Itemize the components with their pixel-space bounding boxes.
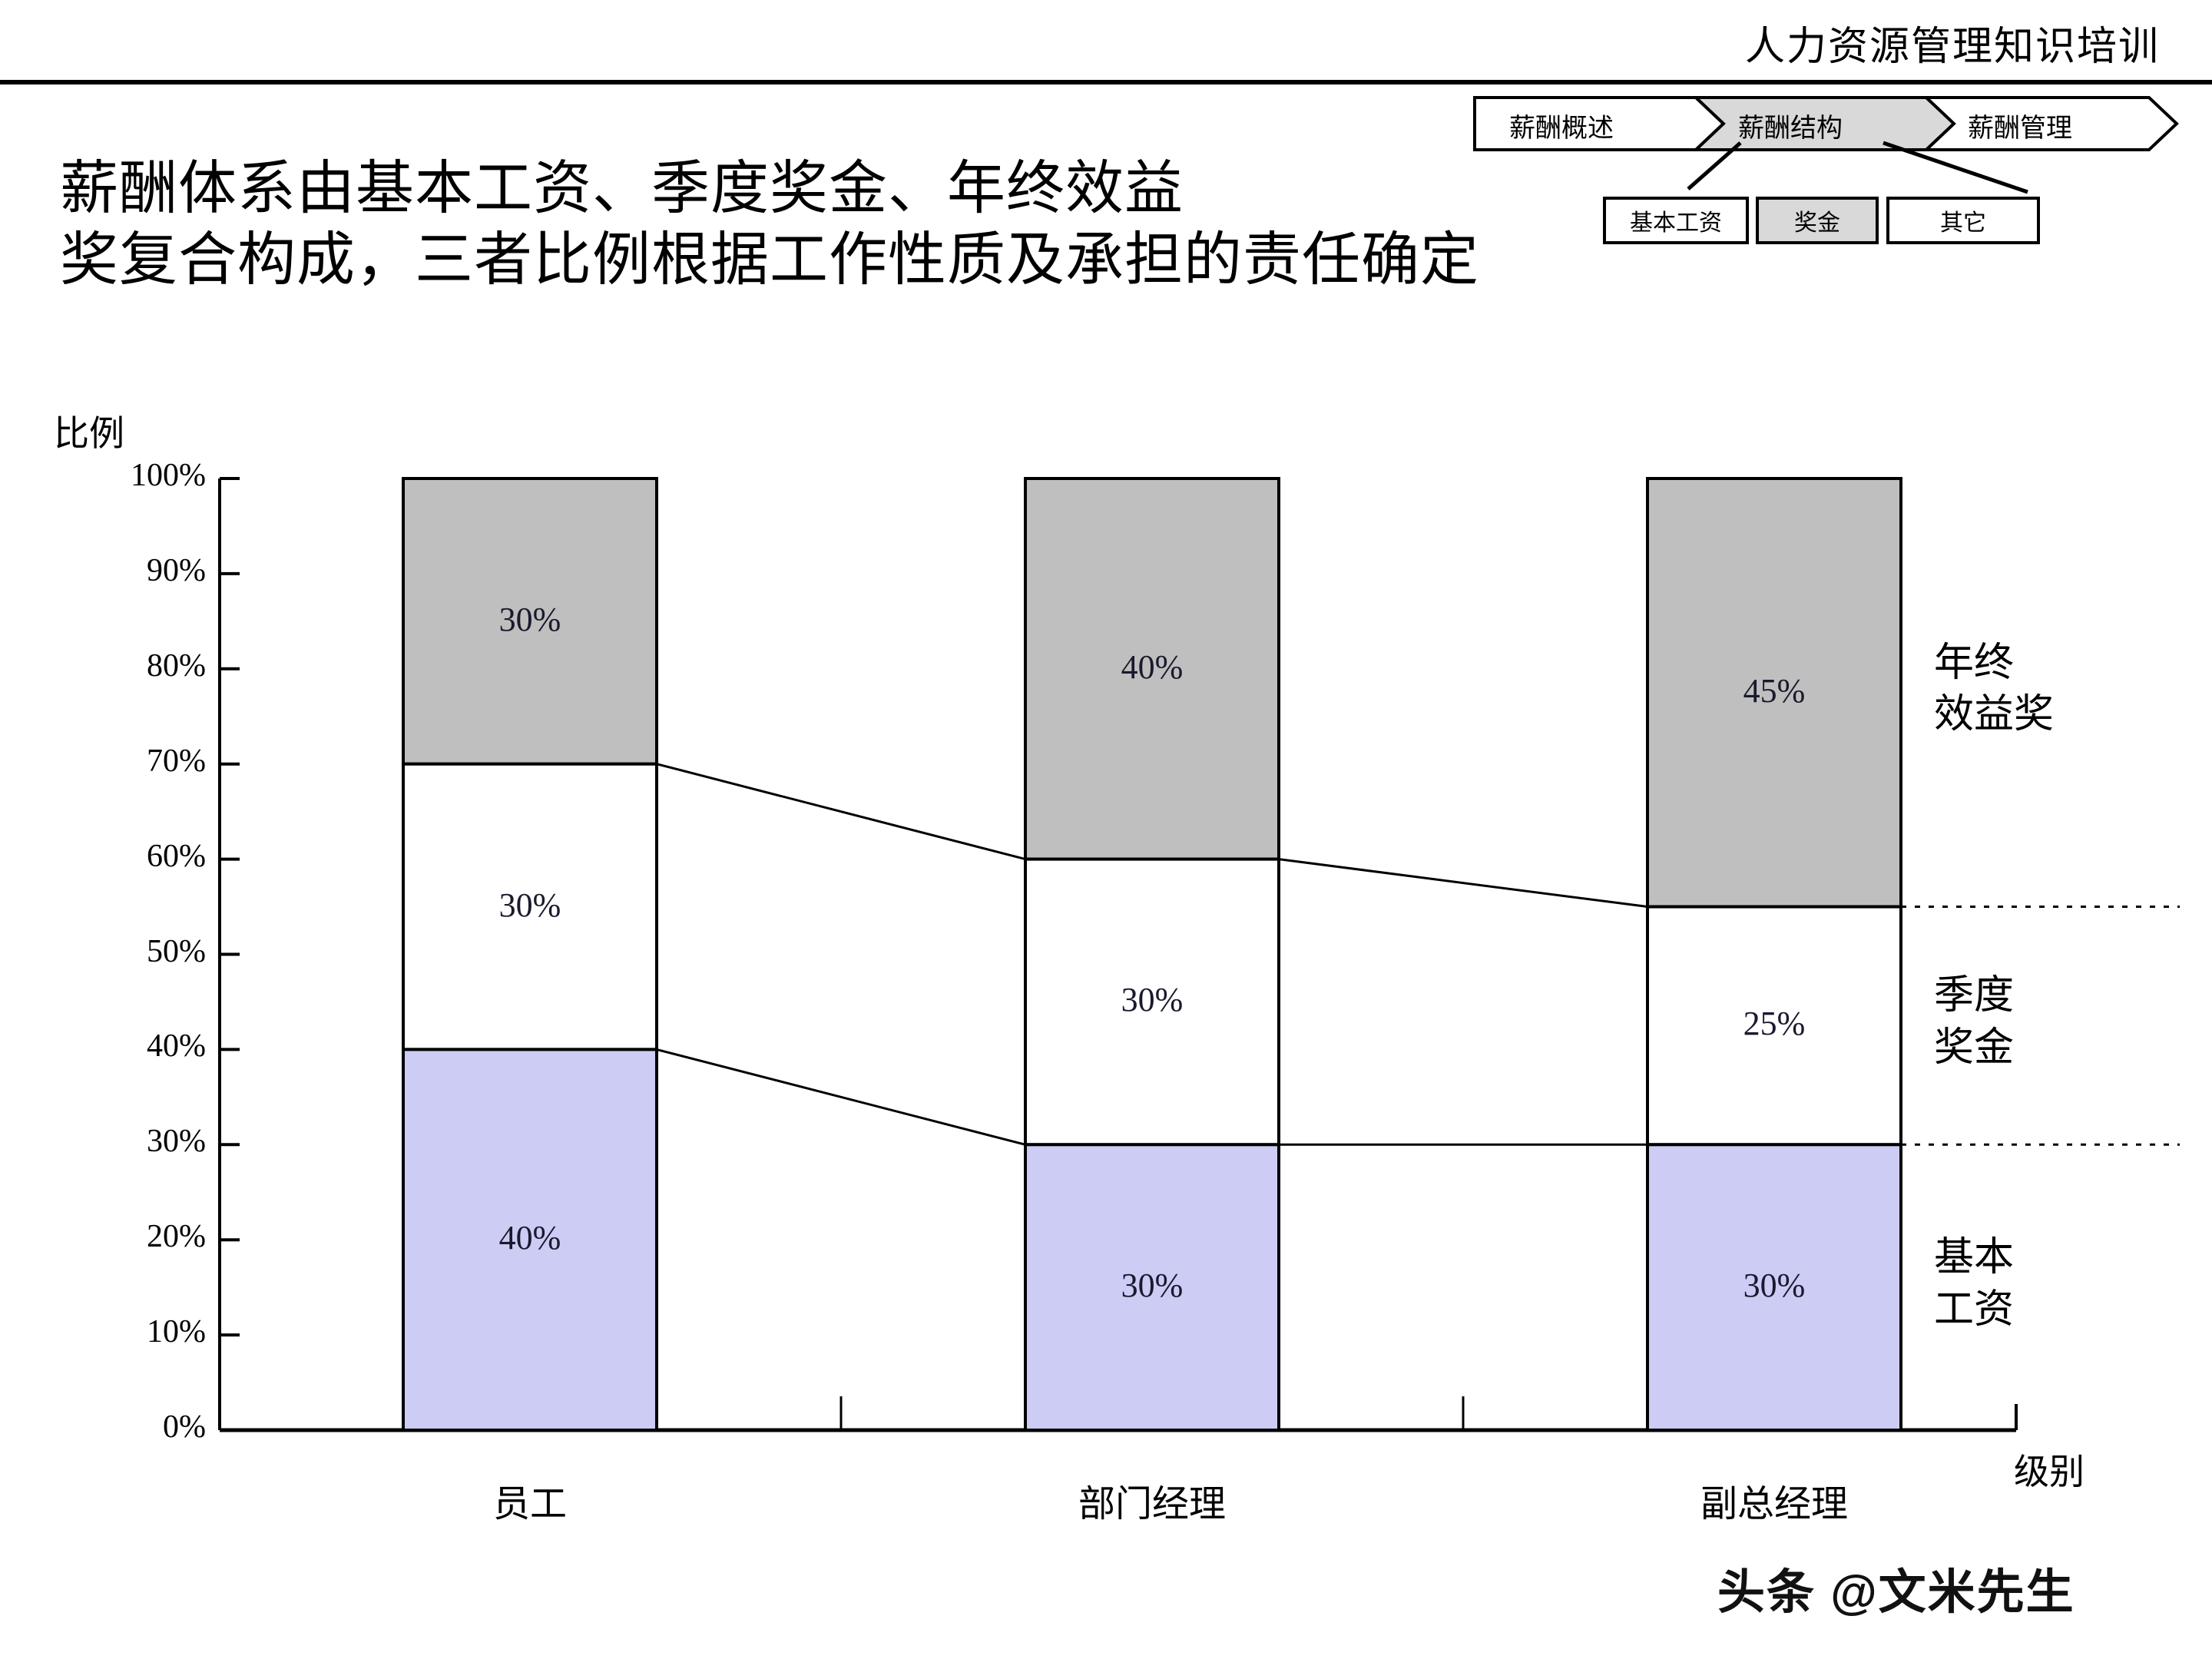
legend-item-0: 年终效益奖 bbox=[1934, 637, 2180, 741]
bar-value-label-0-2: 40% bbox=[403, 1218, 657, 1257]
watermark: 头条 @文米先生 bbox=[1717, 1553, 2075, 1622]
legend-item-2-line-1: 基本 bbox=[1934, 1232, 2180, 1284]
bar-value-label-0-1: 30% bbox=[403, 886, 657, 925]
chart-plot bbox=[0, 0, 2212, 1659]
y-axis-tick-label-6: 40% bbox=[45, 1028, 206, 1065]
x-axis-category-label-0: 员工 bbox=[369, 1473, 691, 1527]
connector-top-of-quarterly-bonus-0 bbox=[657, 764, 1025, 859]
bar-value-label-1-1: 30% bbox=[1025, 980, 1279, 1019]
connector-top-of-base-salary-0 bbox=[657, 1049, 1025, 1144]
legend-item-1-line-2: 奖金 bbox=[1934, 1022, 2180, 1075]
y-axis-tick-label-10: 0% bbox=[45, 1409, 206, 1445]
y-axis-tick-label-9: 10% bbox=[45, 1313, 206, 1350]
y-axis-tick-label-2: 80% bbox=[45, 647, 206, 684]
y-axis-tick-label-3: 70% bbox=[45, 743, 206, 780]
slide-canvas: 人力资源管理知识培训 薪酬概述 薪酬结构 薪酬管理 基本工资 奖金 其它 薪酬体… bbox=[0, 0, 2212, 1659]
bar-value-label-1-2: 30% bbox=[1025, 1266, 1279, 1305]
bar-value-label-2-1: 25% bbox=[1647, 1004, 1901, 1043]
bar-value-label-0-0: 30% bbox=[403, 600, 657, 639]
legend-item-0-line-1: 年终 bbox=[1934, 637, 2180, 690]
legend-item-0-line-2: 效益奖 bbox=[1934, 689, 2180, 741]
bar-value-label-2-0: 45% bbox=[1647, 671, 1901, 710]
bar-value-label-2-2: 30% bbox=[1647, 1266, 1901, 1305]
x-axis-category-label-2: 副总经理 bbox=[1613, 1473, 1936, 1527]
stacked-bar-chart: 比例 级别 100%90%80%70%60%50%40%30%20%10%0% … bbox=[0, 0, 2212, 1659]
x-axis-category-label-1: 部门经理 bbox=[991, 1473, 1313, 1527]
y-axis-tick-label-4: 60% bbox=[45, 838, 206, 875]
chart-boundary-connectors bbox=[657, 764, 2180, 1145]
legend-item-1-line-1: 季度 bbox=[1934, 970, 2180, 1022]
y-axis-tick-label-8: 20% bbox=[45, 1218, 206, 1255]
legend-item-2-line-2: 工资 bbox=[1934, 1284, 2180, 1336]
y-axis-tick-label-5: 50% bbox=[45, 933, 206, 970]
bar-value-label-1-0: 40% bbox=[1025, 647, 1279, 687]
y-axis-tick-label-0: 100% bbox=[45, 457, 206, 494]
y-axis-tick-label-7: 30% bbox=[45, 1123, 206, 1160]
legend-item-2: 基本工资 bbox=[1934, 1232, 2180, 1336]
legend-item-1: 季度奖金 bbox=[1934, 970, 2180, 1074]
y-axis-tick-label-1: 90% bbox=[45, 552, 206, 589]
connector-top-of-quarterly-bonus-1 bbox=[1279, 859, 1647, 907]
